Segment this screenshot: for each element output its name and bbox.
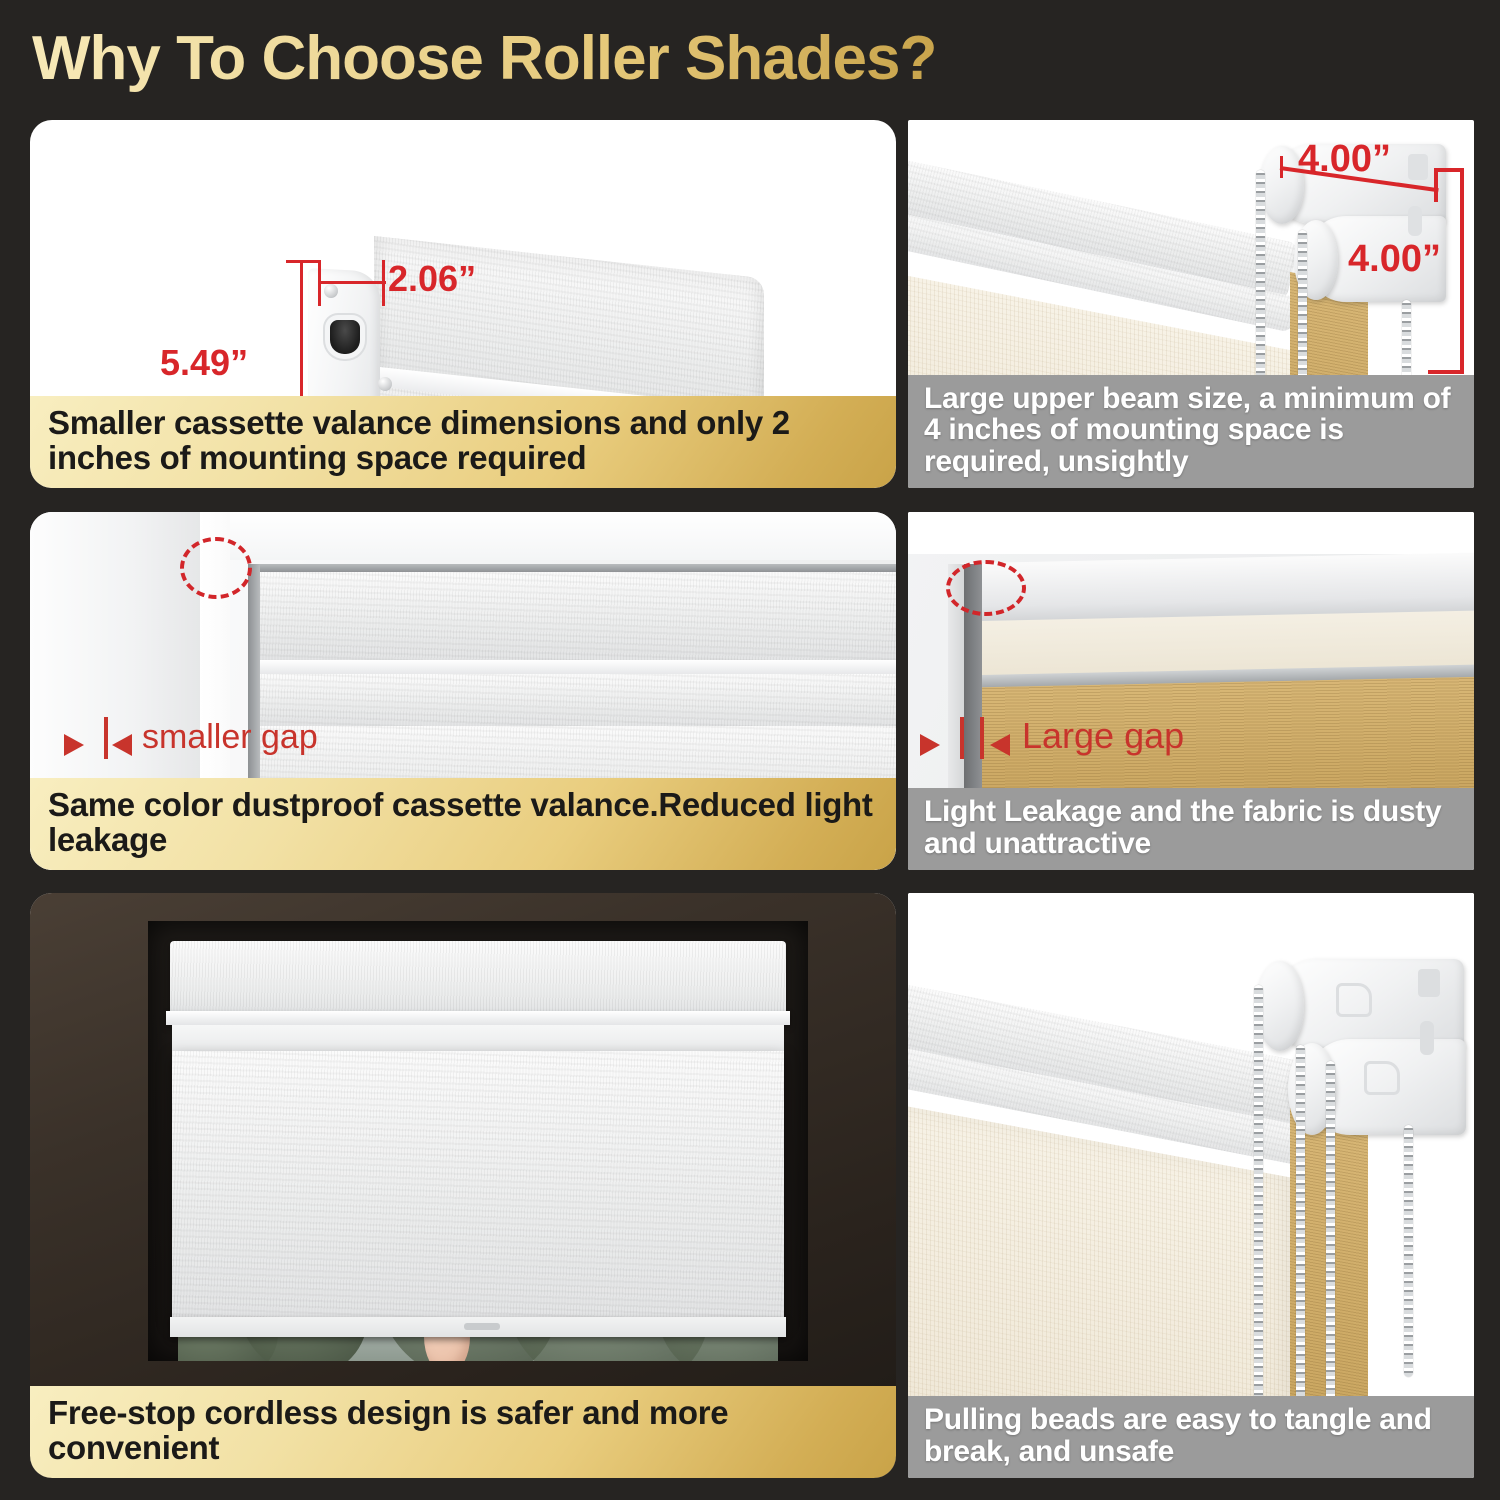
cassette-valance <box>258 572 896 662</box>
dim-rule-horizontal <box>318 281 386 284</box>
bead-chain <box>1296 1045 1305 1417</box>
bracket-emboss-icon <box>1364 1061 1400 1095</box>
dim-tick-top <box>1434 168 1464 172</box>
panel-2-caption: Large upper beam size, a minimum of 4 in… <box>908 375 1474 488</box>
gap-arrow-right-icon <box>64 734 84 756</box>
gap-tick <box>104 717 108 759</box>
gap-arrow-left-icon <box>112 734 132 756</box>
panel-light-leakage: Large gap Light Leakage and the fabric i… <box>908 512 1474 870</box>
dim-rule-vertical <box>1460 168 1464 374</box>
shade-fabric <box>172 1051 784 1321</box>
gap-arrow-left-icon <box>990 734 1010 756</box>
screw-icon <box>378 377 392 391</box>
bottom-rail-handle <box>464 1323 500 1330</box>
panel-pulling-beads: Pulling beads are easy to tangle and bre… <box>908 893 1474 1478</box>
panel-free-stop-cordless: Free-stop cordless design is safer and m… <box>30 893 896 1478</box>
bracket-notch-icon <box>1408 154 1428 180</box>
panel-6-image <box>908 893 1474 1478</box>
screw-icon <box>324 284 338 298</box>
bead-chain <box>1326 1061 1335 1417</box>
bracket-notch-icon <box>1418 969 1440 997</box>
panel-3-caption: Same color dustproof cassette valance.Re… <box>30 778 896 870</box>
valance-lip <box>166 1011 790 1025</box>
panel-smaller-cassette: 2.06” 5.49” Smaller cassette valance dim… <box>30 120 896 488</box>
dimension-label-width: 2.06” <box>388 258 476 300</box>
panel-1-caption: Smaller cassette valance dimensions and … <box>30 396 896 488</box>
gap-callout-label: Large gap <box>1022 715 1184 757</box>
dimension-label-height: 5.49” <box>160 342 248 384</box>
panel-4-caption: Light Leakage and the fabric is dusty an… <box>908 788 1474 870</box>
cassette-valance-edge <box>258 564 896 572</box>
gap-arrow-right-icon <box>920 734 940 756</box>
bracket-slot-icon <box>1408 206 1422 236</box>
panel-dustproof-cassette: smaller gap Same color dustproof cassett… <box>30 512 896 870</box>
shade-fabric-roll <box>258 674 896 728</box>
window-frame-top <box>230 512 896 560</box>
bracket-slot-icon <box>1420 1021 1434 1055</box>
cassette-valance <box>170 941 786 1017</box>
dim-tick-top <box>286 260 318 263</box>
dim-tick-bottom <box>1428 370 1464 374</box>
dimension-label-width: 4.00” <box>1298 138 1391 181</box>
dim-tick-right <box>1434 168 1438 202</box>
cassette-slot <box>330 320 360 354</box>
valance-side-edge <box>248 564 260 794</box>
dimension-label-height: 4.00” <box>1348 238 1441 281</box>
highlight-circle-icon <box>180 537 252 599</box>
roller-end-upper <box>1256 961 1304 1051</box>
roller-tube <box>172 1025 784 1053</box>
bead-chain <box>1254 985 1263 1405</box>
bracket-emboss-icon <box>1336 983 1372 1017</box>
panel-6-caption: Pulling beads are easy to tangle and bre… <box>908 1396 1474 1478</box>
gap-tick <box>960 717 964 759</box>
panel-large-upper-beam: 4.00” 4.00” Large upper beam size, a min… <box>908 120 1474 488</box>
gap-callout-label: smaller gap <box>142 718 318 757</box>
ceiling-band <box>908 512 1474 554</box>
gap-tick <box>980 717 984 759</box>
valance-lip <box>258 660 896 674</box>
highlight-circle-icon <box>946 560 1026 616</box>
panel-5-caption: Free-stop cordless design is safer and m… <box>30 1386 896 1478</box>
page-title: Why To Choose Roller Shades? <box>32 18 1132 100</box>
bead-chain <box>1404 1125 1413 1377</box>
